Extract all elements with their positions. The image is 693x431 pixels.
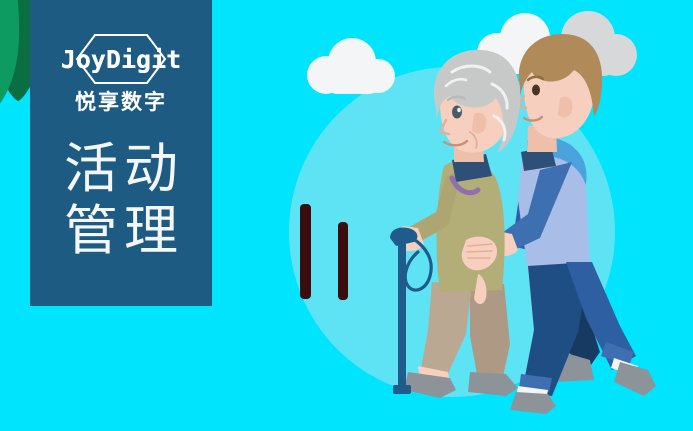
- page-title-line-1: 活动: [30, 138, 212, 200]
- page-title: 活动 管理: [30, 138, 212, 262]
- cane-shaft: [398, 240, 406, 390]
- cane-tip: [393, 385, 411, 394]
- page-title-line-2: 管理: [30, 200, 212, 262]
- tree-front-trunk: [300, 204, 311, 299]
- brand-panel: JoyDigit 悦享数字 活动 管理: [30, 0, 212, 306]
- man-eye: [532, 85, 540, 96]
- logo-mark: JoyDigit: [46, 33, 196, 85]
- woman-finger-2: [467, 251, 492, 252]
- logo-wordmark: JoyDigit: [46, 33, 196, 85]
- woman-eye: [452, 106, 462, 119]
- logo-block: JoyDigit 悦享数字: [30, 33, 212, 113]
- poster-canvas: JoyDigit 悦享数字 活动 管理: [0, 0, 693, 431]
- logo-chinese-name: 悦享数字: [30, 92, 212, 113]
- woman-eye-highlight: [457, 108, 461, 112]
- tree-back-trunk: [338, 222, 348, 300]
